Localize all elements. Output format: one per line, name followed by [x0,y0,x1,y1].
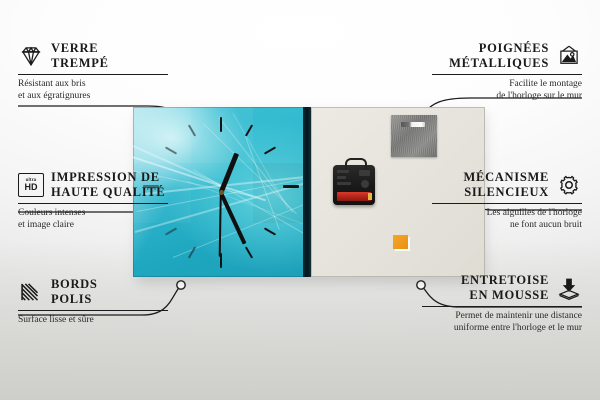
callout-title-line2: MÉTALLIQUES [449,56,549,70]
hour-tick [264,146,276,154]
callout-title-line2: HAUTE QUALITÉ [51,185,165,199]
callout-verre-trempe: VERRE TREMPÉ Résistant aux bris et aux é… [18,41,168,102]
callout-title-line1: IMPRESSION DE [51,170,160,184]
mechanism-hanging-loop [345,158,367,170]
glass-panel-edge [303,107,311,277]
callout-sub-line2: et image claire [18,220,74,230]
gear-icon [556,173,582,197]
callout-bords-polis: BORDS POLIS Surface lisse et sûre [18,277,168,326]
callout-title-line2: EN MOUSSE [469,288,549,302]
callout-rule [422,306,582,307]
foam-spacer [393,235,408,249]
callout-poignees-metalliques: POIGNÉES MÉTALLIQUES Facilite le montage… [432,41,582,102]
callout-sub-line1: Les aiguilles de l'horloge [487,208,582,218]
callout-title-line1: ENTRETOISE [461,273,549,287]
callout-sub-line2: et aux égratignures [18,91,90,101]
callout-rule [18,203,168,204]
callout-entretoise-en-mousse: ENTRETOISE EN MOUSSE Permet de maintenir… [422,273,582,334]
callout-title-line1: MÉCANISME [464,170,549,184]
diamond-icon [18,44,44,68]
hour-tick [188,246,196,258]
callout-sub-line2: ne font aucun bruit [510,220,582,230]
hour-tick [283,185,299,188]
callout-mecanisme-silencieux: MÉCANISME SILENCIEUX Les aiguilles de l'… [432,170,582,231]
callout-sub-line2: uniforme entre l'horloge et le mur [454,323,582,333]
callout-sub-line2: de l'horloge sur le mur [496,91,582,101]
hanger-keyhole-slot [401,122,425,127]
callout-sub-line1: Permet de maintenir une distance [455,311,582,321]
callout-rule [18,310,168,311]
clock-mechanism-box [333,165,375,205]
clock-center-hub [219,190,224,195]
callout-rule [18,74,168,75]
ultra-hd-label-main: HD [25,183,38,192]
battery [337,192,371,201]
metal-hanger-plate [391,115,437,157]
callout-impression-haute-qualite: ultra HD IMPRESSION DE HAUTE QUALITÉ Cou… [18,170,168,231]
infographic-canvas: VERRE TREMPÉ Résistant aux bris et aux é… [0,0,600,400]
callout-sub-line1: Surface lisse et sûre [18,315,94,325]
battery-terminal [368,193,372,200]
callout-sub-line1: Résistant aux bris [18,79,86,89]
callout-rule [432,74,582,75]
callout-rule [432,203,582,204]
callout-title-line1: POIGNÉES [479,41,549,55]
hour-tick [220,117,222,132]
ultra-hd-icon: ultra HD [18,173,44,197]
hour-tick [245,246,253,258]
second-hand [219,192,222,256]
callout-title-line1: VERRE [51,41,98,55]
callout-title-line1: BORDS [51,277,98,291]
press-down-pad-icon [556,276,582,300]
picture-frame-hanging-icon [556,44,582,68]
hour-tick [264,227,276,235]
callout-sub-line1: Couleurs intenses [18,208,85,218]
callout-title-line2: TREMPÉ [51,56,109,70]
callout-sub-line1: Facilite le montage [509,79,582,89]
callout-title-line2: POLIS [51,292,92,306]
polished-edge-icon [18,280,44,304]
callout-title-line2: SILENCIEUX [464,185,549,199]
